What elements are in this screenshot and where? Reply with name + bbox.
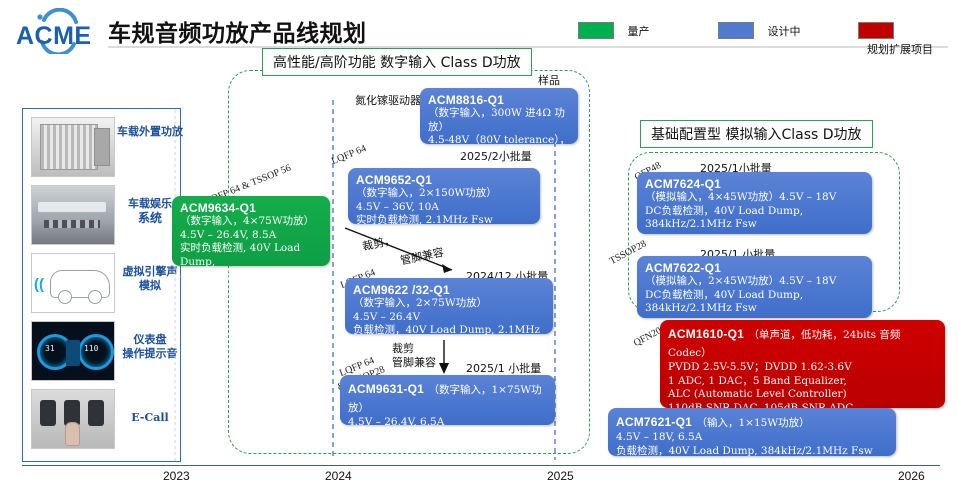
product-title-row: ACM1610-Q1 （单声道，低功耗，24bits 音频Codec） bbox=[668, 325, 937, 361]
acme-logo: ACME bbox=[14, 8, 106, 54]
product-spec-line: ALC (Automatic Level Controller) bbox=[668, 388, 937, 402]
product-card-acm7622[interactable]: ACM7622-Q1 （模拟输入，2×45W功放）4.5V – 18V DC负载… bbox=[637, 256, 872, 318]
application-label: E-Call bbox=[117, 411, 183, 425]
product-spec-line: 4.5V – 18V, 6.5A bbox=[616, 431, 888, 445]
application-label-line2: 系统 bbox=[138, 211, 162, 225]
product-card-acm7624[interactable]: ACM7624-Q1 （模拟输入，4×45W功放）4.5V – 18V DC负载… bbox=[637, 172, 872, 234]
product-name: ACM7621-Q1 bbox=[616, 415, 692, 429]
product-spec-line: 4.5V – 26.4V, 6.5A bbox=[348, 416, 547, 430]
product-spec-line: 负载检测，40V Load Dump, 384kHz/2.1MHz Fsw bbox=[616, 445, 888, 459]
application-label-line1: 车载娱乐 bbox=[128, 197, 172, 210]
timeline-year-2026: 2026 bbox=[898, 469, 925, 483]
sample-label: 样品 bbox=[538, 72, 560, 88]
product-spec-line: （模拟输入，4×45W功放）4.5V – 18V bbox=[645, 191, 864, 205]
product-spec-line: （数字输入，2×75W功放） bbox=[353, 297, 545, 311]
application-label-line2: 操作提示音 bbox=[123, 347, 178, 360]
product-spec-line: 4.5-48V（80V tolerance），5.5mΩ bbox=[428, 134, 570, 161]
timeline-year-2024: 2024 bbox=[325, 469, 352, 483]
product-name: ACM7624-Q1 bbox=[645, 177, 864, 191]
trim-note-2-line2: 管脚兼容 bbox=[392, 354, 436, 370]
product-name: ACM9634-Q1 bbox=[180, 201, 322, 215]
product-title-row: ACM7621-Q1 （输入，1×15W功放） bbox=[616, 413, 888, 431]
timeline-axis bbox=[22, 465, 940, 466]
overhead-console-photo bbox=[31, 389, 115, 449]
legend-item-mass-production: 量产 bbox=[578, 22, 649, 38]
product-spec-line: （模拟输入，2×45W功放）4.5V – 18V bbox=[645, 275, 864, 289]
group-title-analog: 基础配置型 模拟输入Class D功放 bbox=[640, 120, 873, 148]
product-name: ACM9622 /32-Q1 bbox=[353, 283, 545, 297]
product-name: ACM9631-Q1 bbox=[348, 382, 424, 396]
product-card-acm9652[interactable]: ACM9652-Q1 （数字输入，2×150W功放） 4.5V – 36V, 1… bbox=[348, 168, 540, 224]
product-card-acm9634[interactable]: ACM9634-Q1 （数字输入，4×75W功放） 4.5V – 26.4V, … bbox=[172, 196, 330, 266]
timeline-year-2025: 2025 bbox=[547, 469, 574, 483]
legend-item-planned: 规划扩展项目 bbox=[858, 22, 958, 38]
application-column: 车载外置功放 车载娱乐 系统 (( 虚拟引擎声 模拟 31110 bbox=[22, 108, 181, 462]
package-label-acm1610: QFN20 bbox=[632, 325, 664, 349]
product-card-acm9631[interactable]: ACM9631-Q1 （数字输入，1×75W功放） 4.5V – 26.4V, … bbox=[340, 375, 555, 425]
product-name: ACM7622-Q1 bbox=[645, 261, 864, 275]
product-spec-line: DC负载检测，40V Load Dump, bbox=[645, 205, 864, 219]
logo-wordmark: ACME bbox=[16, 22, 92, 51]
legend-item-in-design: 设计中 bbox=[718, 22, 800, 38]
timeline-year-2023: 2023 bbox=[163, 469, 190, 483]
product-card-acm9622[interactable]: ACM9622 /32-Q1 （数字输入，2×75W功放） 4.5V – 26.… bbox=[345, 278, 553, 334]
product-spec-line: DC负载检测，40V Load Dump, bbox=[645, 289, 864, 303]
application-label-line1: 虚拟引擎声 bbox=[123, 265, 178, 278]
product-name: ACM9652-Q1 bbox=[356, 173, 532, 187]
legend-swatch-blue bbox=[718, 22, 754, 39]
product-card-acm1610[interactable]: ACM1610-Q1 （单声道，低功耗，24bits 音频Codec） PVDD… bbox=[660, 320, 945, 408]
product-spec-line: 实时负载检测, 2.1MHz Fsw bbox=[356, 214, 532, 228]
product-subtitle: （输入，1×15W功放） bbox=[696, 417, 809, 429]
legend-label: 规划扩展项目 bbox=[867, 41, 933, 57]
gan-driver-label: 氮化镓驱动器 bbox=[355, 92, 421, 108]
product-spec-line: 384kHz/2.1MHz Fsw bbox=[180, 269, 322, 283]
product-spec-line: （数字输入，4×75W功放） bbox=[180, 215, 322, 229]
product-name: ACM1610-Q1 bbox=[668, 327, 744, 341]
product-spec-line: （数字输入，2×150W功放） bbox=[356, 187, 532, 201]
product-spec-line: 384kHz/2.1MHz Fsw bbox=[645, 302, 864, 316]
product-card-acm8816[interactable]: ACM8816-Q1 （数字输入，300W 进4Ω 功放） 4.5-48V（80… bbox=[420, 88, 578, 144]
application-label-line2: 模拟 bbox=[139, 279, 161, 292]
application-label: 仪表盘 操作提示音 bbox=[117, 333, 183, 361]
head-unit-photo bbox=[31, 185, 115, 245]
group-title-digital: 高性能/高阶功能 数字输入 Class D功放 bbox=[262, 48, 532, 76]
product-spec-line: 4.5V – 36V, 10A bbox=[356, 201, 532, 215]
product-spec-line: 384kHz/2.1MHz Fsw bbox=[645, 218, 864, 232]
legend-swatch-green bbox=[578, 22, 614, 39]
product-spec-line: 1 ADC, 1 DAC，5 Band Equalizer, bbox=[668, 375, 937, 389]
milestone-acm9631: 2025/1 小批量 bbox=[466, 360, 541, 376]
product-title-row: ACM9631-Q1 （数字输入，1×75W功放） bbox=[348, 380, 547, 416]
product-card-acm7621[interactable]: ACM7621-Q1 （输入，1×15W功放） 4.5V – 18V, 6.5A… bbox=[608, 408, 896, 456]
product-spec-line: 实时负载检测, 40V Load Dump, bbox=[180, 242, 322, 269]
product-spec-line: 负载检测，40V Load Dump, 2.1MHz Fsw bbox=[348, 430, 547, 457]
instrument-cluster-photo: 31110 bbox=[31, 321, 115, 381]
product-spec-line: 负载检测，40V Load Dump, 2.1MHz Fsw bbox=[353, 324, 545, 351]
product-name: ACM8816-Q1 bbox=[428, 93, 570, 107]
product-spec-line: PVDD 2.5V-5.5V；DVDD 1.62-3.6V bbox=[668, 361, 937, 375]
product-spec-line: （数字输入，300W 进4Ω 功放） bbox=[428, 107, 570, 134]
legend-label: 设计中 bbox=[767, 23, 800, 39]
application-label: 车载外置功放 bbox=[117, 125, 183, 139]
external-amplifier-photo bbox=[31, 117, 115, 177]
legend-label: 量产 bbox=[627, 23, 649, 39]
page-title: 车规音频功放产品线规划 bbox=[108, 14, 367, 48]
application-label: 虚拟引擎声 模拟 bbox=[117, 265, 183, 293]
product-spec-line: 4.5V – 26.4V, 8.5A bbox=[180, 229, 322, 243]
electric-vehicle-illustration: (( bbox=[31, 253, 115, 313]
legend-swatch-red bbox=[858, 22, 894, 39]
application-label-line1: 仪表盘 bbox=[134, 333, 167, 346]
product-spec-line: 4.5V – 26.4V bbox=[353, 311, 545, 325]
